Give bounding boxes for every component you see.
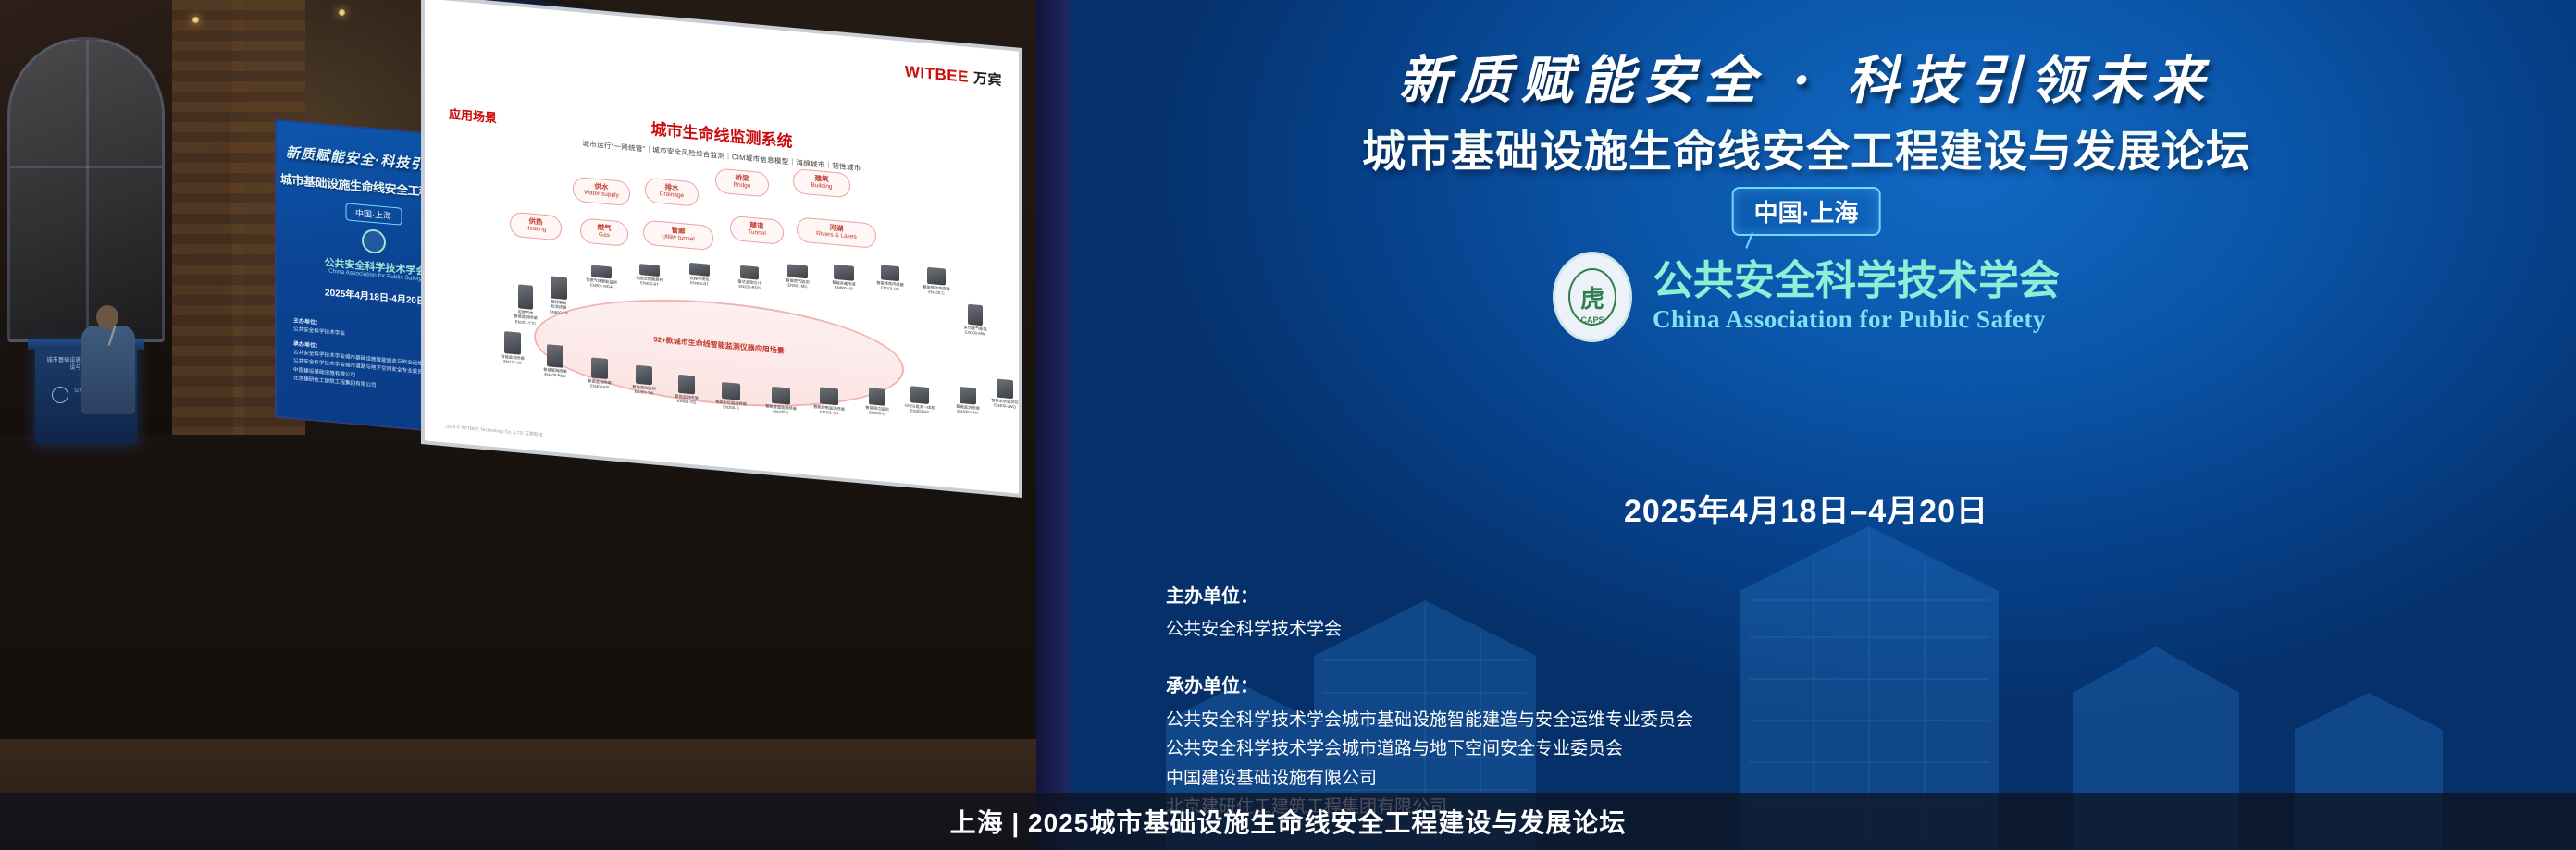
device-icon: 智能管道监测终端 EN200-C xyxy=(762,386,800,416)
device-shape-icon xyxy=(551,276,567,300)
co-organizer-item: 中国建设基础设施有限公司 xyxy=(1166,764,1693,793)
caps-emblem-initials: CAPS xyxy=(1555,315,1629,325)
device-shape-icon xyxy=(881,265,899,281)
scenario-bubble: 管廊Utility tunnel xyxy=(643,219,713,250)
device-icon: GNSS监测一体机 EN303-HS xyxy=(900,385,939,415)
device-icon: 远程可视化 EN404-RT xyxy=(680,262,719,288)
device-caption: 智能监测终端 EN121-LK xyxy=(493,353,532,366)
witbee-wordmark-cn: 万宾 xyxy=(973,70,1002,89)
device-icon: 智能控制监测终端 EN101-AS xyxy=(810,386,848,416)
device-shape-icon xyxy=(639,264,660,277)
organizer-label: 主办单位： xyxy=(1166,581,1342,608)
device-shape-icon xyxy=(547,344,563,368)
device-caption: 智能监测终端 EN300-GNA xyxy=(948,403,987,416)
device-icon: 可燃气体智能监测 EN501-MGA xyxy=(582,265,621,290)
device-caption: 智能监测终端 EN401-SQ xyxy=(667,393,706,406)
device-caption: 远程可视化 EN404-RT xyxy=(680,275,719,288)
slide-canvas: WITBEE万宾 应用场景 城市生命线监测系统 城市运行“一网统管”｜城市安全风… xyxy=(425,0,1019,494)
device-caption: 智能控制监测终端 EN101-AS xyxy=(810,403,848,416)
device-icon: 智能监测终端 EN300-GNA xyxy=(948,386,987,416)
device-icon: 智能井盖传感 EN600-VD xyxy=(824,264,863,292)
device-icon: 智能液位监测 EN300-G xyxy=(858,387,897,417)
side-led-location-badge: 中国·上海 xyxy=(345,203,402,225)
organizer-value: 公共安全科学技术学会 xyxy=(1166,615,1342,640)
banner-date: 2025年4月18日–4月20日 xyxy=(1036,486,2576,531)
device-caption: 智能水位监测终端 EN200-D xyxy=(712,399,750,412)
device-caption: 智能液位监测 EN401-TW xyxy=(625,384,663,397)
device-caption: 智能井盖传感 EN600-VD xyxy=(824,279,863,292)
device-shape-icon xyxy=(678,375,695,395)
device-shape-icon xyxy=(927,267,946,286)
device-shape-icon xyxy=(787,264,808,278)
device-caption: 动感式智能探针 EN402-BT xyxy=(630,275,669,288)
device-icon: 智能水位监测终端 EN200-D xyxy=(712,381,750,412)
device-caption: 管网智能 检测终端 EN600-CS xyxy=(539,298,578,315)
device-shape-icon xyxy=(869,388,885,406)
device-icon: 多功能气象站 EN700-MW xyxy=(956,303,995,338)
caps-emblem-icon: 虎 CAPS xyxy=(1553,252,1632,342)
device-shape-icon xyxy=(591,357,608,379)
co-organizer-label: 承办单位： xyxy=(1166,671,1693,697)
device-shape-icon xyxy=(740,265,759,280)
podium-emblem-icon xyxy=(52,387,68,403)
location-badge: 中国·上海 xyxy=(1732,187,1881,236)
device-shape-icon xyxy=(504,331,521,355)
organizer-block: 主办单位： 公共安全科学技术学会 xyxy=(1166,581,1342,642)
scenario-bubble: 燃气Gas xyxy=(580,217,628,246)
device-icon: 智能水质监测仪 EN400-LWQ xyxy=(985,377,1019,410)
device-shape-icon xyxy=(960,387,976,405)
conference-banner: 新质赋能安全 · 科技引领未来 城市基础设施生命线安全工程建设与发展论坛 中国·… xyxy=(1036,0,2576,850)
scenario-bubble: 建筑Building xyxy=(793,168,850,198)
device-caption: 智能监测终端 EN405-KP xyxy=(580,377,619,390)
stage-light-2 xyxy=(339,9,345,16)
device-caption: 雷达波液位计 EN202-RDD xyxy=(730,278,769,291)
arched-window xyxy=(7,37,165,342)
association-name-en: China Association for Public Safety xyxy=(1653,305,2060,334)
co-organizer-item: 公共安全科学技术学会城市基础设施智能建造与安全运维专业委员会 xyxy=(1166,706,1693,734)
device-icon: 智能燃气监测 EN501-MG xyxy=(778,263,817,289)
device-caption: 智能振动传感器 EN100-C xyxy=(917,284,956,297)
device-caption: 智能水质监测仪 EN400-LWQ xyxy=(985,397,1019,410)
scenario-bubble: 供热Heating xyxy=(510,212,562,240)
slide-footer: 2024 © WITBEE Technology Co., LTD 万宾科技 xyxy=(445,423,543,437)
device-caption: 智能燃气监测 EN501-MG xyxy=(778,277,817,289)
scenario-bubble: 河湖Rivers & Lakes xyxy=(797,216,876,248)
device-icon: 智能管网终端 EN400-RDU xyxy=(536,343,575,379)
scenario-bubble: 排水Drainage xyxy=(645,178,699,207)
device-caption: 智能管网终端 EN400-RDU xyxy=(536,366,575,379)
banner-calligraphy-slogan: 新质赋能安全 · 科技引领未来 xyxy=(1036,39,2576,114)
device-icon: 智能振动传感器 EN100-C xyxy=(917,266,956,297)
device-shape-icon xyxy=(518,284,533,309)
speaker-person xyxy=(81,326,135,414)
device-caption: 智能管道监测终端 EN200-C xyxy=(762,403,800,416)
caption-text: 上海 | 2025城市基础设施生命线安全工程建设与发展论坛 xyxy=(950,803,1627,840)
caption-bar: 上海 | 2025城市基础设施生命线安全工程建设与发展论坛 xyxy=(0,793,2576,850)
device-icon: 动感式智能探针 EN402-BT xyxy=(630,263,669,288)
witbee-logo: WITBEE万宾 xyxy=(905,62,1002,90)
device-shape-icon xyxy=(689,263,710,277)
device-icon: 雷达波液位计 EN202-RDD xyxy=(730,265,769,291)
device-icon: 智能监测终端 EN405-KP xyxy=(580,356,619,390)
device-icon: 智能液位监测 EN401-TW xyxy=(625,364,663,397)
side-led-emblem-icon xyxy=(362,228,386,254)
device-caption: 多功能气象站 EN700-MW xyxy=(956,325,995,338)
witbee-wordmark: WITBEE xyxy=(905,63,969,86)
device-shape-icon xyxy=(722,382,740,400)
presentation-screen: WITBEE万宾 应用场景 城市生命线监测系统 城市运行“一网统管”｜城市安全风… xyxy=(421,0,1022,516)
device-caption: GNSS监测一体机 EN303-HS xyxy=(900,402,939,415)
device-shape-icon xyxy=(910,386,929,404)
device-caption: 智能倾角传感器 EN101-BS xyxy=(871,279,910,292)
device-shape-icon xyxy=(820,387,838,405)
scenario-bubble: 桥梁Bridge xyxy=(715,167,769,197)
co-organizer-item: 公共安全科学技术学会城市道路与地下空间安全专业委员会 xyxy=(1166,734,1693,763)
association-names: 公共安全科学技术学会 China Association for Public … xyxy=(1653,260,2060,334)
association-row: 虎 CAPS 公共安全科学技术学会 China Association for … xyxy=(1553,252,2060,342)
scenario-bubble: 隧道Tunnel xyxy=(730,216,784,245)
banner-main-title: 城市基础设施生命线安全工程建设与发展论坛 xyxy=(1036,116,2576,179)
device-shape-icon xyxy=(997,379,1013,400)
device-shape-icon xyxy=(968,304,983,326)
device-caption: 可燃气体智能监测 EN501-MGA xyxy=(582,277,621,290)
device-icon: 智能倾角传感器 EN101-BS xyxy=(871,264,910,292)
device-shape-icon xyxy=(834,265,854,281)
device-icon: 管网智能 检测终端 EN600-CS xyxy=(539,275,578,315)
device-icon: 智能监测终端 EN401-SQ xyxy=(667,374,706,406)
device-shape-icon xyxy=(772,387,790,405)
device-icon: 智能监测终端 EN121-LK xyxy=(493,330,532,366)
conference-photo-screenshot: 城市基础设施生命线安全工程建设与发展论坛 公共安全科学技术学会 新质赋能安全·科… xyxy=(0,0,2576,850)
stage-light-1 xyxy=(192,17,199,23)
scenario-bubble: 供水Water supply xyxy=(573,177,630,206)
device-shape-icon xyxy=(591,265,612,278)
device-shape-icon xyxy=(636,365,652,386)
association-name-cn: 公共安全科学技术学会 xyxy=(1653,260,2060,302)
device-caption: 智能液位监测 EN300-G xyxy=(858,404,897,417)
